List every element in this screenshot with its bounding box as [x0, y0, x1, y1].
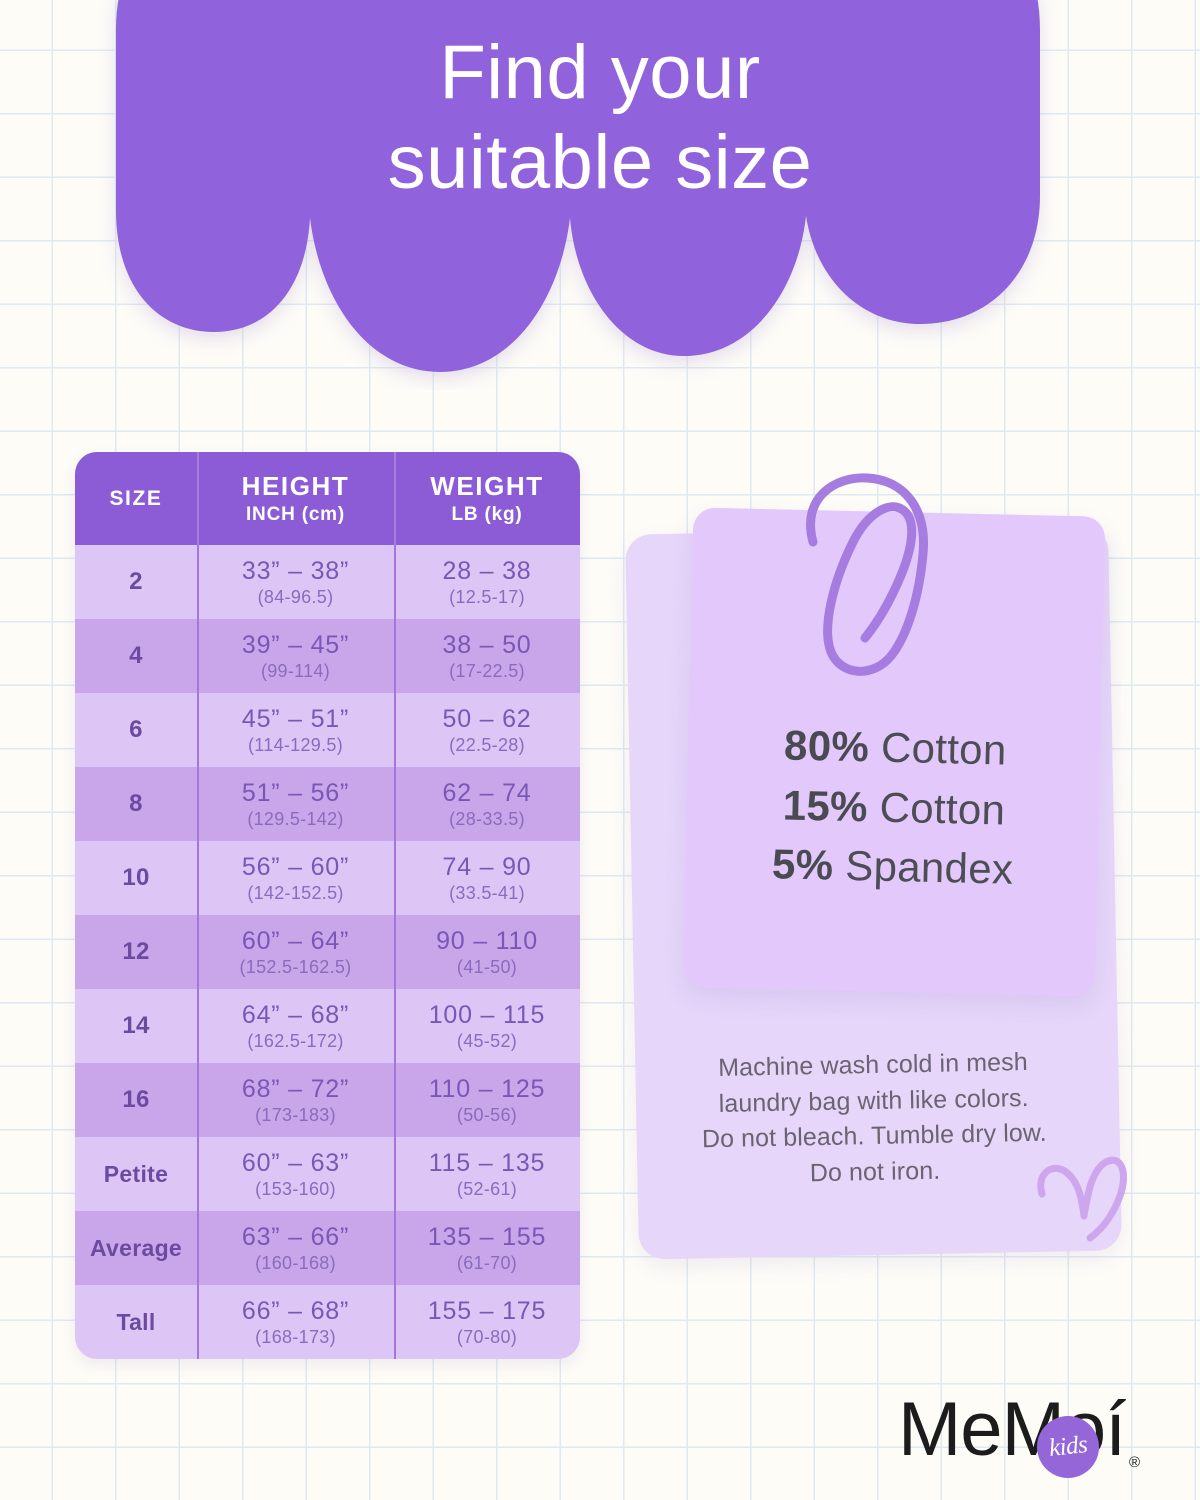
- cell-size: 12: [75, 915, 197, 989]
- cell-weight: 28 – 38 (12.5-17): [394, 545, 580, 619]
- fabric-material: Cotton: [869, 723, 1008, 773]
- cell-height: 33” – 38” (84-96.5): [197, 545, 394, 619]
- cell-weight: 115 – 135 (52-61): [394, 1137, 580, 1211]
- cell-weight: 74 – 90 (33.5-41): [394, 841, 580, 915]
- fabric-percent: 5%: [772, 841, 834, 889]
- table-row: 2 33” – 38” (84-96.5) 28 – 38 (12.5-17): [75, 545, 580, 619]
- table-row: 8 51” – 56” (129.5-142) 62 – 74 (28-33.5…: [75, 767, 580, 841]
- fabric-composition-list: 80% Cotton 15% Cotton 5% Spandex: [686, 713, 1102, 901]
- cell-height: 45” – 51” (114-129.5): [197, 693, 394, 767]
- cell-weight: 135 – 155 (61-70): [394, 1211, 580, 1285]
- table-row: Average 63” – 66” (160-168) 135 – 155 (6…: [75, 1211, 580, 1285]
- table-row: 16 68” – 72” (173-183) 110 – 125 (50-56): [75, 1063, 580, 1137]
- table-header-row: SIZE HEIGHT INCH (cm) WEIGHT LB (kg): [75, 452, 580, 545]
- cell-height: 66” – 68” (168-173): [197, 1285, 394, 1359]
- cell-size: Average: [75, 1211, 197, 1285]
- table-row: Petite 60” – 63” (153-160) 115 – 135 (52…: [75, 1137, 580, 1211]
- cell-height: 64” – 68” (162.5-172): [197, 989, 394, 1063]
- logo-kids-badge: kids: [1037, 1416, 1099, 1478]
- heart-doodle-icon: [1028, 1148, 1133, 1253]
- cell-weight: 110 – 125 (50-56): [394, 1063, 580, 1137]
- cell-weight: 62 – 74 (28-33.5): [394, 767, 580, 841]
- fabric-material: Cotton: [867, 783, 1006, 833]
- logo-kids-label: kids: [1048, 1431, 1089, 1463]
- table-row: 12 60” – 64” (152.5-162.5) 90 – 110 (41-…: [75, 915, 580, 989]
- fabric-line: 15% Cotton: [687, 773, 1100, 842]
- fabric-percent: 80%: [784, 721, 870, 770]
- cell-height: 56” – 60” (142-152.5): [197, 841, 394, 915]
- registered-trademark-symbol: ®: [1129, 1454, 1140, 1471]
- table-row: 10 56” – 60” (142-152.5) 74 – 90 (33.5-4…: [75, 841, 580, 915]
- page-title: Find your suitable size: [0, 28, 1200, 207]
- table-row: 6 45” – 51” (114-129.5) 50 – 62 (22.5-28…: [75, 693, 580, 767]
- cell-size: 10: [75, 841, 197, 915]
- cell-size: Petite: [75, 1137, 197, 1211]
- fabric-line: 5% Spandex: [686, 833, 1099, 902]
- table-row: 14 64” – 68” (162.5-172) 100 – 115 (45-5…: [75, 989, 580, 1063]
- fabric-line: 80% Cotton: [689, 713, 1102, 782]
- cell-size: Tall: [75, 1285, 197, 1359]
- cell-size: 6: [75, 693, 197, 767]
- size-chart-table: SIZE HEIGHT INCH (cm) WEIGHT LB (kg) 2 3…: [75, 452, 580, 1359]
- table-row: 4 39” – 45” (99-114) 38 – 50 (17-22.5): [75, 619, 580, 693]
- cell-weight: 90 – 110 (41-50): [394, 915, 580, 989]
- cell-weight: 50 – 62 (22.5-28): [394, 693, 580, 767]
- fabric-material: Spandex: [833, 842, 1014, 893]
- column-header-height: HEIGHT INCH (cm): [197, 452, 394, 545]
- table-row: Tall 66” – 68” (168-173) 155 – 175 (70-8…: [75, 1285, 580, 1359]
- column-header-weight: WEIGHT LB (kg): [394, 452, 580, 545]
- paperclip-icon: [795, 470, 965, 685]
- cell-height: 68” – 72” (173-183): [197, 1063, 394, 1137]
- column-header-size: SIZE: [75, 452, 197, 545]
- cell-weight: 38 – 50 (17-22.5): [394, 619, 580, 693]
- cell-weight: 100 – 115 (45-52): [394, 989, 580, 1063]
- cell-size: 16: [75, 1063, 197, 1137]
- cell-size: 8: [75, 767, 197, 841]
- cell-height: 60” – 64” (152.5-162.5): [197, 915, 394, 989]
- cell-size: 2: [75, 545, 197, 619]
- fabric-percent: 15%: [782, 781, 868, 830]
- cell-size: 14: [75, 989, 197, 1063]
- cell-height: 39” – 45” (99-114): [197, 619, 394, 693]
- cell-weight: 155 – 175 (70-80): [394, 1285, 580, 1359]
- cell-height: 60” – 63” (153-160): [197, 1137, 394, 1211]
- cell-height: 51” – 56” (129.5-142): [197, 767, 394, 841]
- brand-logo: MeMoí kids ®: [898, 1392, 1148, 1484]
- cell-height: 63” – 66” (160-168): [197, 1211, 394, 1285]
- cell-size: 4: [75, 619, 197, 693]
